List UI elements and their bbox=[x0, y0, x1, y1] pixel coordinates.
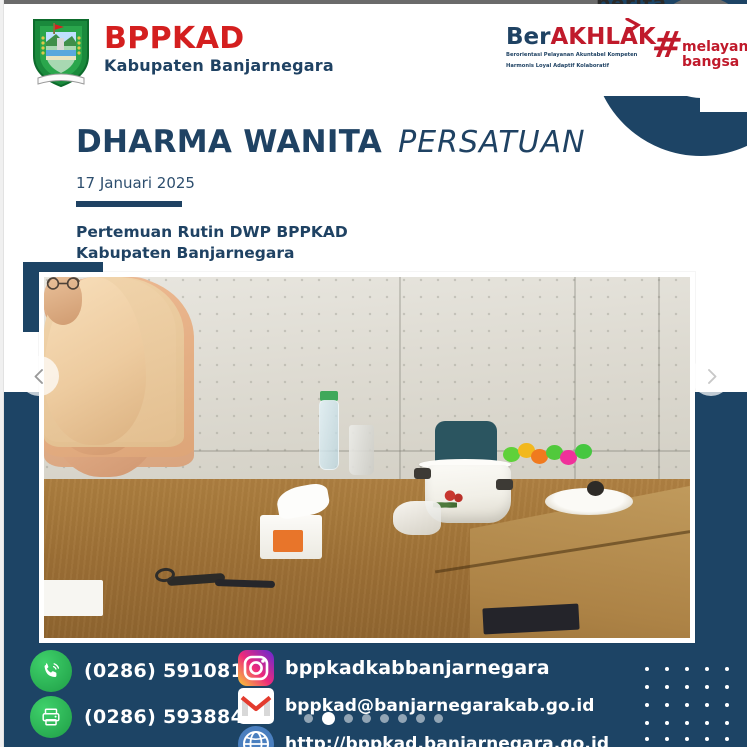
photo-dark-object bbox=[483, 603, 580, 634]
photo-tissue-box-label bbox=[273, 530, 303, 552]
carousel-pagination[interactable] bbox=[0, 712, 747, 725]
social-group: bppkadkabbanjarnegara bppkad@banjarnegar… bbox=[238, 650, 609, 747]
bangga-line-1: bangga bbox=[682, 26, 747, 40]
carousel-dot-6[interactable] bbox=[398, 714, 407, 723]
phone-group: (0286) 591081 (0286) 593884 bbox=[30, 650, 244, 742]
photo-white-box bbox=[44, 580, 103, 616]
article-description-line-2: Kabupaten Banjarnegara bbox=[76, 243, 586, 264]
contact-footer: (0286) 591081 (0286) 593884 bbox=[0, 648, 747, 747]
carousel-dot-3[interactable] bbox=[344, 714, 353, 723]
photo-pot-lid-knob bbox=[587, 481, 604, 496]
chevron-left-icon bbox=[31, 368, 48, 385]
phone-row-1: (0286) 591081 bbox=[30, 650, 244, 692]
berakhlak-logo: BerAKHLAK Berorientasi Pelayanan Akuntab… bbox=[506, 26, 646, 71]
carousel-dot-2[interactable] bbox=[322, 712, 335, 725]
carousel-dot-1[interactable] bbox=[304, 714, 313, 723]
chevron-right-icon bbox=[703, 368, 720, 385]
carousel-dot-5[interactable] bbox=[380, 714, 389, 723]
page-title-italic: PERSATUAN bbox=[398, 125, 586, 160]
berakhlak-tagline-2: Harmonis Loyal Adaptif Kolaboratif bbox=[506, 63, 646, 71]
berakhlak-prefix: Ber bbox=[506, 24, 550, 50]
brand-block: BPPKAD Kabupaten Banjarnegara bbox=[104, 24, 334, 74]
site-header: BPPKAD Kabupaten Banjarnegara BerAKHLAK … bbox=[4, 4, 747, 96]
page-title: DHARMA WANITA bbox=[76, 124, 382, 160]
carousel-dot-7[interactable] bbox=[416, 714, 425, 723]
title-underline-rule bbox=[76, 201, 182, 207]
photo-water-bottle bbox=[319, 400, 339, 470]
article-title-block: DHARMA WANITA PERSATUAN 17 Januari 2025 … bbox=[76, 124, 586, 264]
photo-candy-containers bbox=[503, 443, 599, 465]
carousel-photo[interactable] bbox=[39, 272, 695, 643]
bangga-line-2: melayani bbox=[682, 40, 747, 54]
berakhlak-tagline-1: Berorientasi Pelayanan Akuntabel Kompete… bbox=[506, 52, 646, 60]
photo-plastic-bag bbox=[393, 501, 441, 535]
banjarnegara-coat-of-arms-icon bbox=[30, 16, 92, 88]
article-date: 17 Januari 2025 bbox=[76, 174, 586, 192]
article-description-line-1: Pertemuan Rutin DWP BPPKAD bbox=[76, 222, 586, 243]
brand-title: BPPKAD bbox=[104, 24, 334, 54]
page-root: berita bbox=[0, 0, 747, 747]
photo-plastic-cup bbox=[349, 425, 374, 475]
brand-subtitle: Kabupaten Banjarnegara bbox=[104, 58, 334, 74]
phone-icon bbox=[30, 650, 72, 692]
social-row-website[interactable]: http://bppkad.banjarnegara.go.id bbox=[238, 726, 609, 747]
carousel-dot-8[interactable] bbox=[434, 714, 443, 723]
carousel-prev-button[interactable] bbox=[19, 356, 59, 396]
phone-number-1: (0286) 591081 bbox=[84, 660, 244, 682]
berakhlak-swoosh-icon bbox=[625, 18, 641, 34]
photo-person-4-glasses-icon bbox=[44, 277, 84, 290]
hash-icon: # bbox=[650, 30, 685, 62]
globe-icon bbox=[238, 726, 274, 747]
social-row-instagram[interactable]: bppkadkabbanjarnegara bbox=[238, 650, 609, 686]
instagram-icon bbox=[238, 650, 274, 686]
website-url: http://bppkad.banjarnegara.go.id bbox=[285, 734, 609, 747]
bangga-line-3: bangsa bbox=[682, 55, 747, 69]
carousel-next-button[interactable] bbox=[691, 356, 731, 396]
instagram-handle: bppkadkabbanjarnegara bbox=[285, 657, 550, 679]
carousel-dot-4[interactable] bbox=[362, 714, 371, 723]
